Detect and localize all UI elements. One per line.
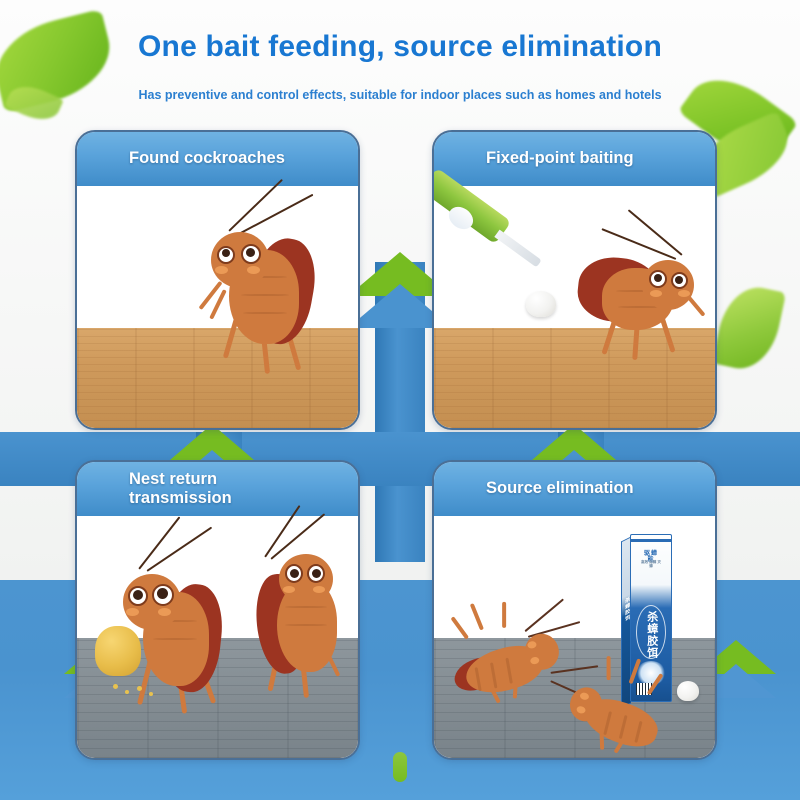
cheek-icon-right	[650, 290, 662, 297]
gel-bait-dot	[526, 291, 556, 317]
antenna-icon-left	[550, 665, 598, 674]
green-sliver-bottom	[393, 752, 407, 782]
card-body-source-elimination: 杀蟑胶饵 驱蟑能 高效 除蟑 灭蟑 杀蟑胶饵	[434, 516, 715, 758]
card-title-fixed-point-baiting: Fixed-point baiting	[486, 149, 634, 168]
product-box-sub-text: 高效 除蟑 灭蟑	[641, 561, 661, 569]
crumb-particle-3	[137, 686, 142, 691]
leaf-icon-right-lower	[712, 281, 786, 375]
cheek-icon-left	[126, 608, 139, 616]
syringe-applicator-illustration	[432, 182, 564, 342]
card-body-fixed-point-baiting	[434, 186, 715, 428]
antenna-icon-right	[601, 228, 676, 260]
card-found-cockroaches[interactable]: Found cockroaches	[75, 130, 360, 430]
body-segment-3	[243, 312, 287, 314]
leg-icon-up-2	[470, 603, 484, 630]
product-box-front-text: 杀蟑胶饵	[645, 611, 657, 659]
cockroach-illustration	[562, 224, 717, 369]
crumb-particle-2	[125, 690, 129, 694]
card-body-found-cockroaches	[77, 186, 358, 428]
leg-icon-up-3	[502, 602, 506, 628]
leg-icon-up-1	[451, 616, 470, 639]
cheek-icon-left	[215, 266, 228, 274]
card-header-source-elimination: Source elimination	[434, 462, 715, 516]
card-title-nest-return-transmission: Nest return transmission	[129, 470, 269, 508]
product-box-top-stripe	[631, 539, 671, 542]
body-segment-1	[285, 606, 327, 608]
crumb-particle-4	[149, 692, 153, 696]
cockroach-illustration	[185, 204, 335, 389]
card-header-fixed-point-baiting: Fixed-point baiting	[434, 132, 715, 186]
antenna-icon-right	[146, 527, 212, 572]
page-subtitle: Has preventive and control effects, suit…	[0, 88, 800, 102]
cheek-icon-right	[158, 608, 171, 616]
antenna-icon-right	[237, 194, 314, 236]
crumb-particle-1	[113, 684, 118, 689]
card-body-nest-return-transmission	[77, 516, 358, 758]
pupil-icon-right	[654, 274, 662, 282]
cockroach-illustration-follower	[227, 530, 360, 710]
cheek-icon-right	[247, 266, 260, 274]
leg-icon-up-1	[607, 656, 611, 680]
card-fixed-point-baiting[interactable]: Fixed-point baiting	[432, 130, 717, 430]
card-title-found-cockroaches: Found cockroaches	[129, 149, 285, 168]
body-segment-2	[153, 638, 197, 640]
food-crumb-icon	[95, 626, 141, 676]
body-segment-2	[285, 624, 327, 626]
card-header-nest-return-transmission: Nest return transmission	[77, 462, 358, 516]
card-source-elimination[interactable]: Source elimination 杀蟑胶饵 驱蟑能 高效 除蟑 灭蟑 杀蟑胶…	[432, 460, 717, 760]
pupil-icon-left	[222, 249, 230, 257]
pupil-icon-right	[157, 588, 168, 599]
syringe-tip	[494, 230, 541, 268]
card-nest-return-transmission[interactable]: Nest return transmission	[75, 460, 360, 760]
leg-icon-up-3	[647, 673, 664, 695]
pupil-icon-left	[675, 276, 683, 284]
cheek-icon-left	[283, 586, 295, 593]
pupil-icon-right	[246, 248, 255, 257]
page-title: One bait feeding, source elimination	[0, 30, 800, 64]
card-header-found-cockroaches: Found cockroaches	[77, 132, 358, 186]
pupil-icon-left	[290, 569, 299, 578]
pupil-icon-left	[133, 590, 143, 600]
pupil-icon-right	[312, 569, 321, 578]
cheek-icon-left	[678, 290, 690, 297]
card-title-source-elimination: Source elimination	[486, 479, 634, 498]
product-box-side-text: 杀蟑胶饵	[624, 596, 629, 623]
body-segment-2	[241, 294, 289, 296]
cheek-icon-right	[313, 586, 325, 593]
